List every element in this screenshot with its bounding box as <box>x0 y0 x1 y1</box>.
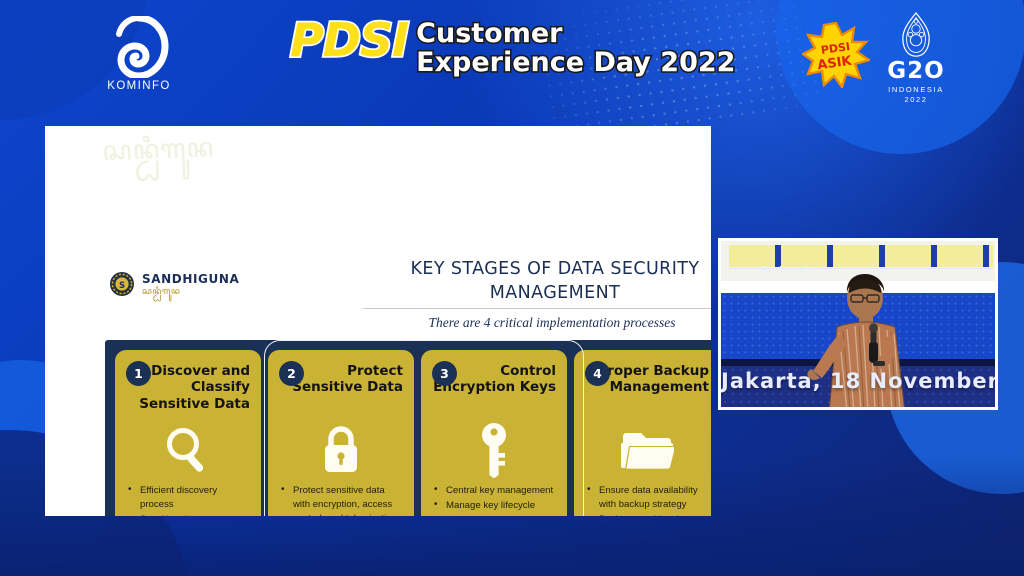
event-title: PDSI Customer Experience Day 2022 <box>290 18 760 77</box>
svg-text:S: S <box>119 281 125 291</box>
g20-gunungan-icon <box>890 12 942 59</box>
folder-icon <box>585 419 709 481</box>
sandhiguna-brand: S SANDHIGUNA ꦱꦤ꧀ꦝꦶꦒꦸꦤ <box>109 271 239 297</box>
list-item: Ensure data availability with backup str… <box>585 484 709 512</box>
slide-title: KEY STAGES OF DATA SECURITY MANAGEMENT <box>365 258 711 305</box>
event-title-line2: Experience Day 2022 <box>416 48 735 77</box>
stages-panel: 1 Discover and Classify Sensitive Data E… <box>105 340 711 516</box>
stage-card-3[interactable]: 3 Control Encryption Keys Central key ma… <box>421 350 567 516</box>
stage-card-4[interactable]: 4 Proper Backup Management Ensure data a… <box>574 350 711 516</box>
g20-country: INDONESIA <box>888 85 944 94</box>
stage-bullets-2: Protect sensitive data with encryption, … <box>279 484 403 516</box>
sandhiguna-name: SANDHIGUNA <box>142 273 239 285</box>
event-header: KOMINFO PDSI Customer Experience Day 202… <box>0 0 1024 118</box>
list-item: Efficient discovery process <box>126 484 250 512</box>
slide-subtitle: There are 4 critical implementation proc… <box>363 315 711 331</box>
sandhiguna-script: ꦱꦤ꧀ꦝꦶꦒꦸꦤ <box>142 287 239 296</box>
list-item: Sensitive data classification <box>126 513 250 516</box>
stage-card-1[interactable]: 1 Discover and Classify Sensitive Data E… <box>115 350 261 516</box>
stage-number-3: 3 <box>432 361 457 386</box>
kominfo-label: KOMINFO <box>107 80 170 92</box>
video-screen-cards <box>729 245 993 267</box>
speaker-video-inset[interactable]: Cryptography Jakarta, 18 Novemb <box>718 238 998 410</box>
stage-bullets-1: Efficient discovery process Sensitive da… <box>126 484 250 516</box>
slide-watermark: ꦱꦤ꧀ꦝꦶꦒꦸꦤ <box>102 127 405 217</box>
title-divider <box>363 308 711 309</box>
g20-year: 2022 <box>904 95 927 104</box>
g20-wordmark: G2O <box>887 60 944 83</box>
video-caption: Jakarta, 18 November 2022 <box>721 369 998 393</box>
stage-number-1: 1 <box>126 361 151 386</box>
stage-card-list: 1 Discover and Classify Sensitive Data E… <box>115 350 711 516</box>
starburst-badge-icon: PDSI ASIK <box>802 22 870 88</box>
stage-bullets-4: Ensure data availability with backup str… <box>585 484 709 516</box>
kominfo-swirl-icon <box>109 16 169 78</box>
event-title-pdsi: PDSI <box>290 18 408 62</box>
key-icon <box>432 419 556 481</box>
event-title-line1: Customer <box>416 19 735 48</box>
magnifier-icon <box>126 419 250 481</box>
g20-logo: G2O INDONESIA 2022 <box>877 12 955 104</box>
stage-number-4: 4 <box>585 361 610 386</box>
sandhiguna-emblem-icon: S <box>109 271 135 297</box>
padlock-icon <box>279 419 403 481</box>
list-item: Manage key lifecycle <box>432 499 556 513</box>
list-item: Central key management <box>432 484 556 498</box>
stage-card-2[interactable]: 2 Protect Sensitive Data Protect sensiti… <box>268 350 414 516</box>
list-item: Protect sensitive data with encryption, … <box>279 484 403 516</box>
stage-bullets-3: Central key management Manage key lifecy… <box>432 484 556 516</box>
list-item: Unified key management and encryption po… <box>432 514 556 516</box>
presentation-slide: ꦱꦤ꧀ꦝꦶꦒꦸꦤ S SANDHIGUNA ꦱꦤ꧀ꦝꦶꦒꦸꦤ KEY STAGE… <box>45 126 711 516</box>
kominfo-logo: KOMINFO <box>96 16 182 102</box>
stage-number-2: 2 <box>279 361 304 386</box>
list-item: Backup sensitive data and encryption key… <box>585 513 709 516</box>
